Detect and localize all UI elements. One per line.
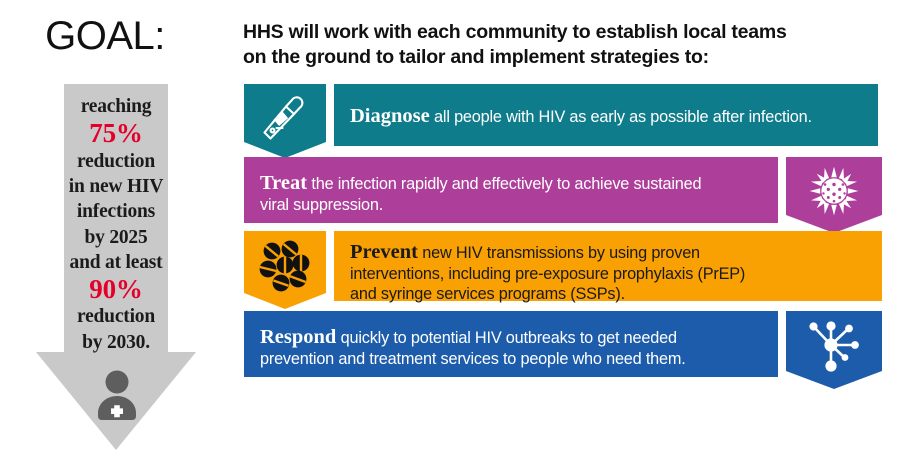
goal-line-1: 75% (36, 119, 196, 148)
prevent-text: Prevent new HIV transmissions by using p… (350, 240, 878, 305)
headline-line-2: on the ground to tailor and implement st… (243, 46, 709, 68)
headline: HHS will work with each community to est… (243, 20, 873, 70)
diagnose-text: Diagnose all people with HIV as early as… (350, 104, 870, 129)
hiv-test-swab-icon (256, 92, 314, 144)
goal-text: reaching 75% reduction in new HIV infect… (36, 94, 196, 355)
goal-line-6: and at least (70, 252, 163, 273)
goal-line-4: infections (77, 201, 155, 222)
virus-icon (800, 165, 868, 217)
goal-line-9: by 2030. (82, 332, 150, 353)
goal-line-0: reaching (81, 96, 152, 117)
goal-line-3: in new HIV (69, 176, 163, 197)
headline-line-1: HHS will work with each community to est… (243, 21, 787, 43)
treat-keyword: Treat (260, 172, 307, 194)
diagnose-keyword: Diagnose (350, 105, 430, 127)
respond-body-line-1: quickly to potential HIV outbreaks to ge… (336, 329, 676, 347)
prevent-body-line-3: and syringe services programs (SSPs). (350, 285, 625, 303)
respond-keyword: Respond (260, 326, 336, 348)
goal-line-2: reduction (77, 151, 155, 172)
goal-line-5: by 2025 (84, 227, 147, 248)
goal-line-8: reduction (77, 306, 155, 327)
pillar-treat[interactable]: Treat the infection rapidly and effectiv… (238, 157, 910, 229)
prevent-body-line-1: new HIV transmissions by using proven (418, 244, 700, 262)
strategy-column: HHS will work with each community to est… (238, 0, 910, 472)
diagnose-body: all people with HIV as early as possible… (430, 108, 812, 126)
pillar-respond[interactable]: Respond quickly to potential HIV outbrea… (238, 311, 910, 385)
person-plus-icon (94, 370, 140, 422)
goal-arrow: reaching 75% reduction in new HIV infect… (36, 84, 196, 450)
treat-text: Treat the infection rapidly and effectiv… (260, 171, 776, 216)
prevent-keyword: Prevent (350, 241, 418, 263)
pillar-diagnose[interactable]: Diagnose all people with HIV as early as… (238, 84, 878, 154)
pillar-prevent[interactable]: Prevent new HIV transmissions by using p… (238, 231, 910, 309)
goal-column: GOAL: reaching 75% reduction in new HIV … (0, 0, 232, 472)
treat-body-line-2: viral suppression. (260, 196, 383, 214)
goal-title: GOAL: (0, 16, 210, 56)
infographic-root: GOAL: reaching 75% reduction in new HIV … (0, 0, 910, 472)
respond-text: Respond quickly to potential HIV outbrea… (260, 325, 776, 370)
cluster-network-icon (804, 319, 864, 375)
prevent-body-line-2: interventions, including pre-exposure pr… (350, 265, 745, 283)
treat-body-line-1: the infection rapidly and effectively to… (307, 175, 701, 193)
goal-line-7: 90% (36, 275, 196, 304)
respond-body-line-2: prevention and treatment services to peo… (260, 350, 686, 368)
pills-icon (254, 239, 316, 297)
